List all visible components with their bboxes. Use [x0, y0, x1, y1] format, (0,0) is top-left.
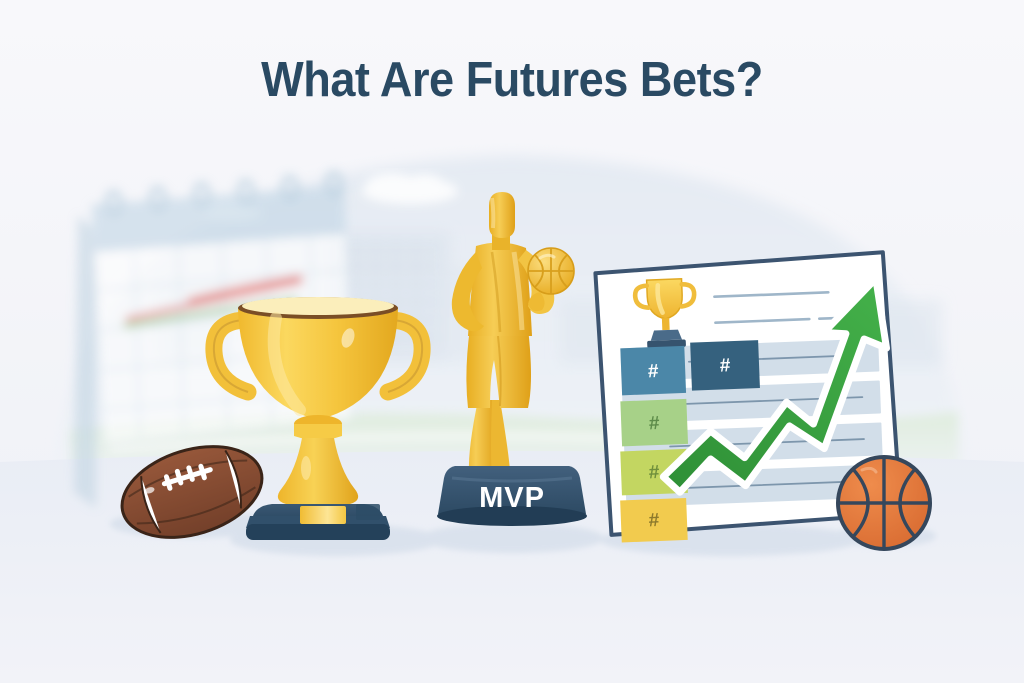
- statue-basketball: [528, 248, 574, 294]
- mvp-player-statue: MVP: [437, 192, 587, 526]
- illustration-canvas: # # # # #: [0, 0, 1024, 683]
- page-title: What Are Futures Bets?: [41, 52, 983, 108]
- mvp-base-label: MVP: [479, 482, 545, 514]
